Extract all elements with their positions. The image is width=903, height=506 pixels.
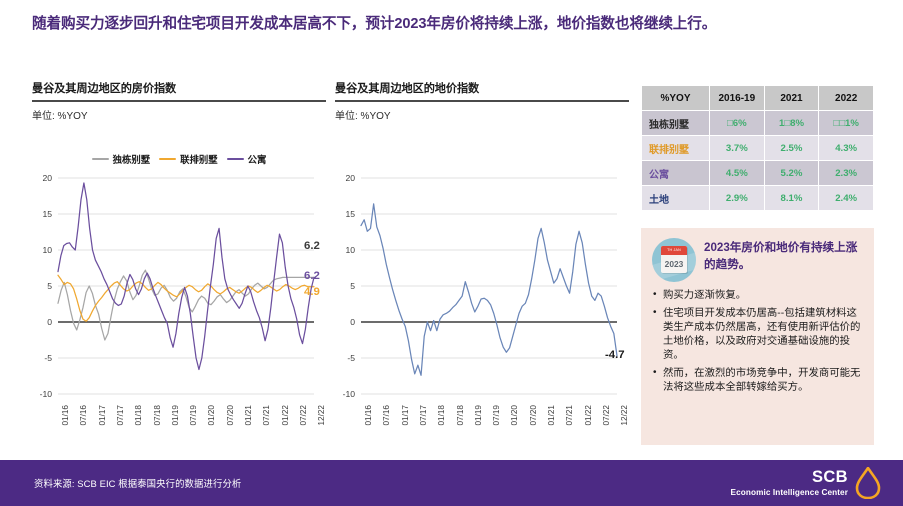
line-chart-right: 20151050-5-10 [335, 172, 629, 402]
svg-text:10: 10 [345, 245, 355, 255]
insight-callout: TH JAN 2023 2023年房价和地价有持续上涨的趋势。 购买力逐渐恢复。… [641, 228, 874, 445]
source-note: 资料来源: SCB EIC 根据泰国央行的数据进行分析 [34, 476, 241, 490]
x-axis-tick-label: 01/16 [364, 405, 373, 426]
chart-title-left: 曼谷及其周边地区的房价指数 [32, 80, 326, 100]
x-axis-tick-label: 07/21 [565, 405, 574, 426]
svg-text:10: 10 [42, 245, 52, 255]
list-item: 购买力逐渐恢复。 [652, 289, 863, 303]
table-cell-detached-2021: 1□8% [764, 111, 819, 136]
table-cell-land-2016-19: 2.9% [710, 186, 765, 211]
x-axis-labels-right: 01/1607/1601/1707/1701/1807/1801/1907/19… [335, 403, 629, 447]
x-axis-tick-label: 01/20 [510, 405, 519, 426]
brand-logo: SCB Economic Intelligence Center [731, 467, 881, 499]
legend-swatch-detached-house [92, 158, 109, 160]
table-cell-condo-2016-19: 4.5% [710, 161, 765, 186]
x-axis-tick-label: 07/20 [529, 405, 538, 426]
svg-text:-10: -10 [40, 389, 53, 399]
x-axis-tick-label: 07/22 [602, 405, 611, 426]
table-rowlabel-detached-house: 独栋别墅 [642, 111, 710, 136]
svg-text:5: 5 [47, 281, 52, 291]
title-divider-right [335, 100, 629, 102]
svg-text:20: 20 [345, 173, 355, 183]
x-axis-tick-label: 01/20 [207, 405, 216, 426]
slide-footer: 资料来源: SCB EIC 根据泰国央行的数据进行分析 SCB Economic… [0, 460, 903, 506]
svg-text:15: 15 [42, 209, 52, 219]
table-row: 公寓 4.5% 5.2% 2.3% [642, 161, 874, 186]
end-label-detached-house: 6.2 [304, 240, 320, 252]
x-axis-tick-label: 01/22 [584, 405, 593, 426]
chart-panel-land-price-index: 曼谷及其周边地区的地价指数 单位: %YOY 20151050-5-10 -4.… [335, 80, 629, 447]
line-chart-left: 20151050-5-10 [32, 172, 326, 402]
x-axis-tick-label: 07/16 [382, 405, 391, 426]
end-label-townhouse: 4.9 [304, 286, 320, 298]
x-axis-tick-label: 01/18 [437, 405, 446, 426]
table-header-2021: 2021 [764, 86, 819, 111]
table-rowlabel-condo: 公寓 [642, 161, 710, 186]
title-divider-left [32, 100, 326, 102]
table-row: 独栋别墅 □6% 1□8% □□1% [642, 111, 874, 136]
list-item: 然而，在激烈的市场竞争中，开发商可能无法将这些成本全部转嫁给买方。 [652, 367, 863, 395]
table-row: 土地 2.9% 8.1% 2.4% [642, 186, 874, 211]
x-axis-tick-label: 01/22 [281, 405, 290, 426]
svg-text:-5: -5 [44, 353, 52, 363]
chart-title-right: 曼谷及其周边地区的地价指数 [335, 80, 629, 100]
chart-unit-right: 单位: %YOY [335, 107, 629, 122]
table-header-2022: 2022 [819, 86, 874, 111]
brand-text: SCB Economic Intelligence Center [731, 469, 848, 497]
x-axis-tick-label: 01/21 [244, 405, 253, 426]
table-cell-detached-2022: □□1% [819, 111, 874, 136]
table-cell-townhouse-2021: 2.5% [764, 136, 819, 161]
chart-unit-left: 单位: %YOY [32, 107, 326, 122]
x-axis-tick-label: 07/17 [116, 405, 125, 426]
x-axis-tick-label: 01/18 [134, 405, 143, 426]
x-axis-labels-left: 01/1607/1601/1707/1701/1807/1801/1907/19… [32, 403, 326, 447]
end-label-land-price: -4.7 [605, 349, 625, 361]
x-axis-tick-label: 07/20 [226, 405, 235, 426]
callout-bullet-list: 购买力逐渐恢复。 住宅项目开发成本仍居高--包括建筑材料这类生产成本仍然居高，还… [652, 289, 863, 395]
callout-header: TH JAN 2023 2023年房价和地价有持续上涨的趋势。 [652, 238, 863, 282]
table-cell-townhouse-2022: 4.3% [819, 136, 874, 161]
legend-item-condo: 公寓 [227, 152, 267, 166]
x-axis-tick-label: 12/22 [317, 405, 326, 426]
svg-text:20: 20 [42, 173, 52, 183]
x-axis-tick-label: 07/19 [189, 405, 198, 426]
table-cell-detached-2016-19: □6% [710, 111, 765, 136]
calendar-banner: TH JAN [661, 246, 687, 255]
scb-flame-icon [855, 467, 881, 499]
callout-title: 2023年房价和地价有持续上涨的趋势。 [704, 238, 863, 274]
table-row: 联排别墅 3.7% 2.5% 4.3% [642, 136, 874, 161]
svg-text:-10: -10 [343, 389, 356, 399]
svg-text:-5: -5 [347, 353, 355, 363]
legend-item-townhouse: 联排别墅 [159, 152, 218, 166]
slide-header: 随着购买力逐步回升和住宅项目开发成本居高不下，预计2023年房价将持续上涨，地价… [0, 0, 903, 68]
table-cell-condo-2021: 5.2% [764, 161, 819, 186]
x-axis-tick-label: 07/16 [79, 405, 88, 426]
x-axis-tick-label: 07/21 [262, 405, 271, 426]
table-header-row: %YOY 2016-19 2021 2022 [642, 86, 874, 111]
legend-label-detached-house: 独栋别墅 [113, 152, 151, 166]
table-cell-townhouse-2016-19: 3.7% [710, 136, 765, 161]
x-axis-tick-label: 07/22 [299, 405, 308, 426]
yoy-table: %YOY 2016-19 2021 2022 独栋别墅 □6% 1□8% □□1… [641, 85, 874, 211]
x-axis-tick-label: 01/21 [547, 405, 556, 426]
table-rowlabel-townhouse: 联排别墅 [642, 136, 710, 161]
x-axis-tick-label: 01/17 [98, 405, 107, 426]
x-axis-tick-label: 01/16 [61, 405, 70, 426]
legend-swatch-townhouse [159, 158, 176, 160]
table-rowlabel-land: 土地 [642, 186, 710, 211]
svg-text:15: 15 [345, 209, 355, 219]
table-header-2016-19: 2016-19 [710, 86, 765, 111]
x-axis-tick-label: 01/19 [474, 405, 483, 426]
x-axis-tick-label: 12/22 [620, 405, 629, 426]
chart-panel-house-price-index: 曼谷及其周边地区的房价指数 单位: %YOY 独栋别墅 联排别墅 公寓 2015… [32, 80, 326, 447]
brand-name: SCB [731, 469, 848, 486]
plot-area-left: 20151050-5-10 6.2 6.2 4.9 [32, 172, 326, 402]
brand-subtitle: Economic Intelligence Center [731, 488, 848, 497]
table-cell-land-2021: 8.1% [764, 186, 819, 211]
calendar-icon: TH JAN 2023 [652, 238, 696, 282]
x-axis-tick-label: 07/17 [419, 405, 428, 426]
legend-swatch-condo [227, 158, 244, 160]
legend-label-condo: 公寓 [248, 152, 267, 166]
svg-text:0: 0 [350, 317, 355, 327]
x-axis-tick-label: 01/17 [401, 405, 410, 426]
legend-item-detached-house: 独栋别墅 [92, 152, 151, 166]
svg-text:5: 5 [350, 281, 355, 291]
plot-area-right: 20151050-5-10 -4.7 [335, 172, 629, 402]
x-axis-tick-label: 01/19 [171, 405, 180, 426]
chart-legend-left: 独栋别墅 联排别墅 公寓 [32, 148, 326, 170]
legend-label-townhouse: 联排别墅 [180, 152, 218, 166]
table-cell-land-2022: 2.4% [819, 186, 874, 211]
page-title: 随着购买力逐步回升和住宅项目开发成本居高不下，预计2023年房价将持续上涨，地价… [32, 14, 875, 36]
table-cell-condo-2022: 2.3% [819, 161, 874, 186]
x-axis-tick-label: 07/18 [456, 405, 465, 426]
x-axis-tick-label: 07/18 [153, 405, 162, 426]
svg-text:0: 0 [47, 317, 52, 327]
x-axis-tick-label: 07/19 [492, 405, 501, 426]
chart-legend-right [335, 148, 629, 170]
list-item: 住宅项目开发成本仍居高--包括建筑材料这类生产成本仍然居高，还有使用新评估价的土… [652, 307, 863, 363]
end-label-condo: 6.2 [304, 270, 320, 282]
yoy-table-container: %YOY 2016-19 2021 2022 独栋别墅 □6% 1□8% □□1… [641, 85, 874, 211]
table-header-metric: %YOY [642, 86, 710, 111]
